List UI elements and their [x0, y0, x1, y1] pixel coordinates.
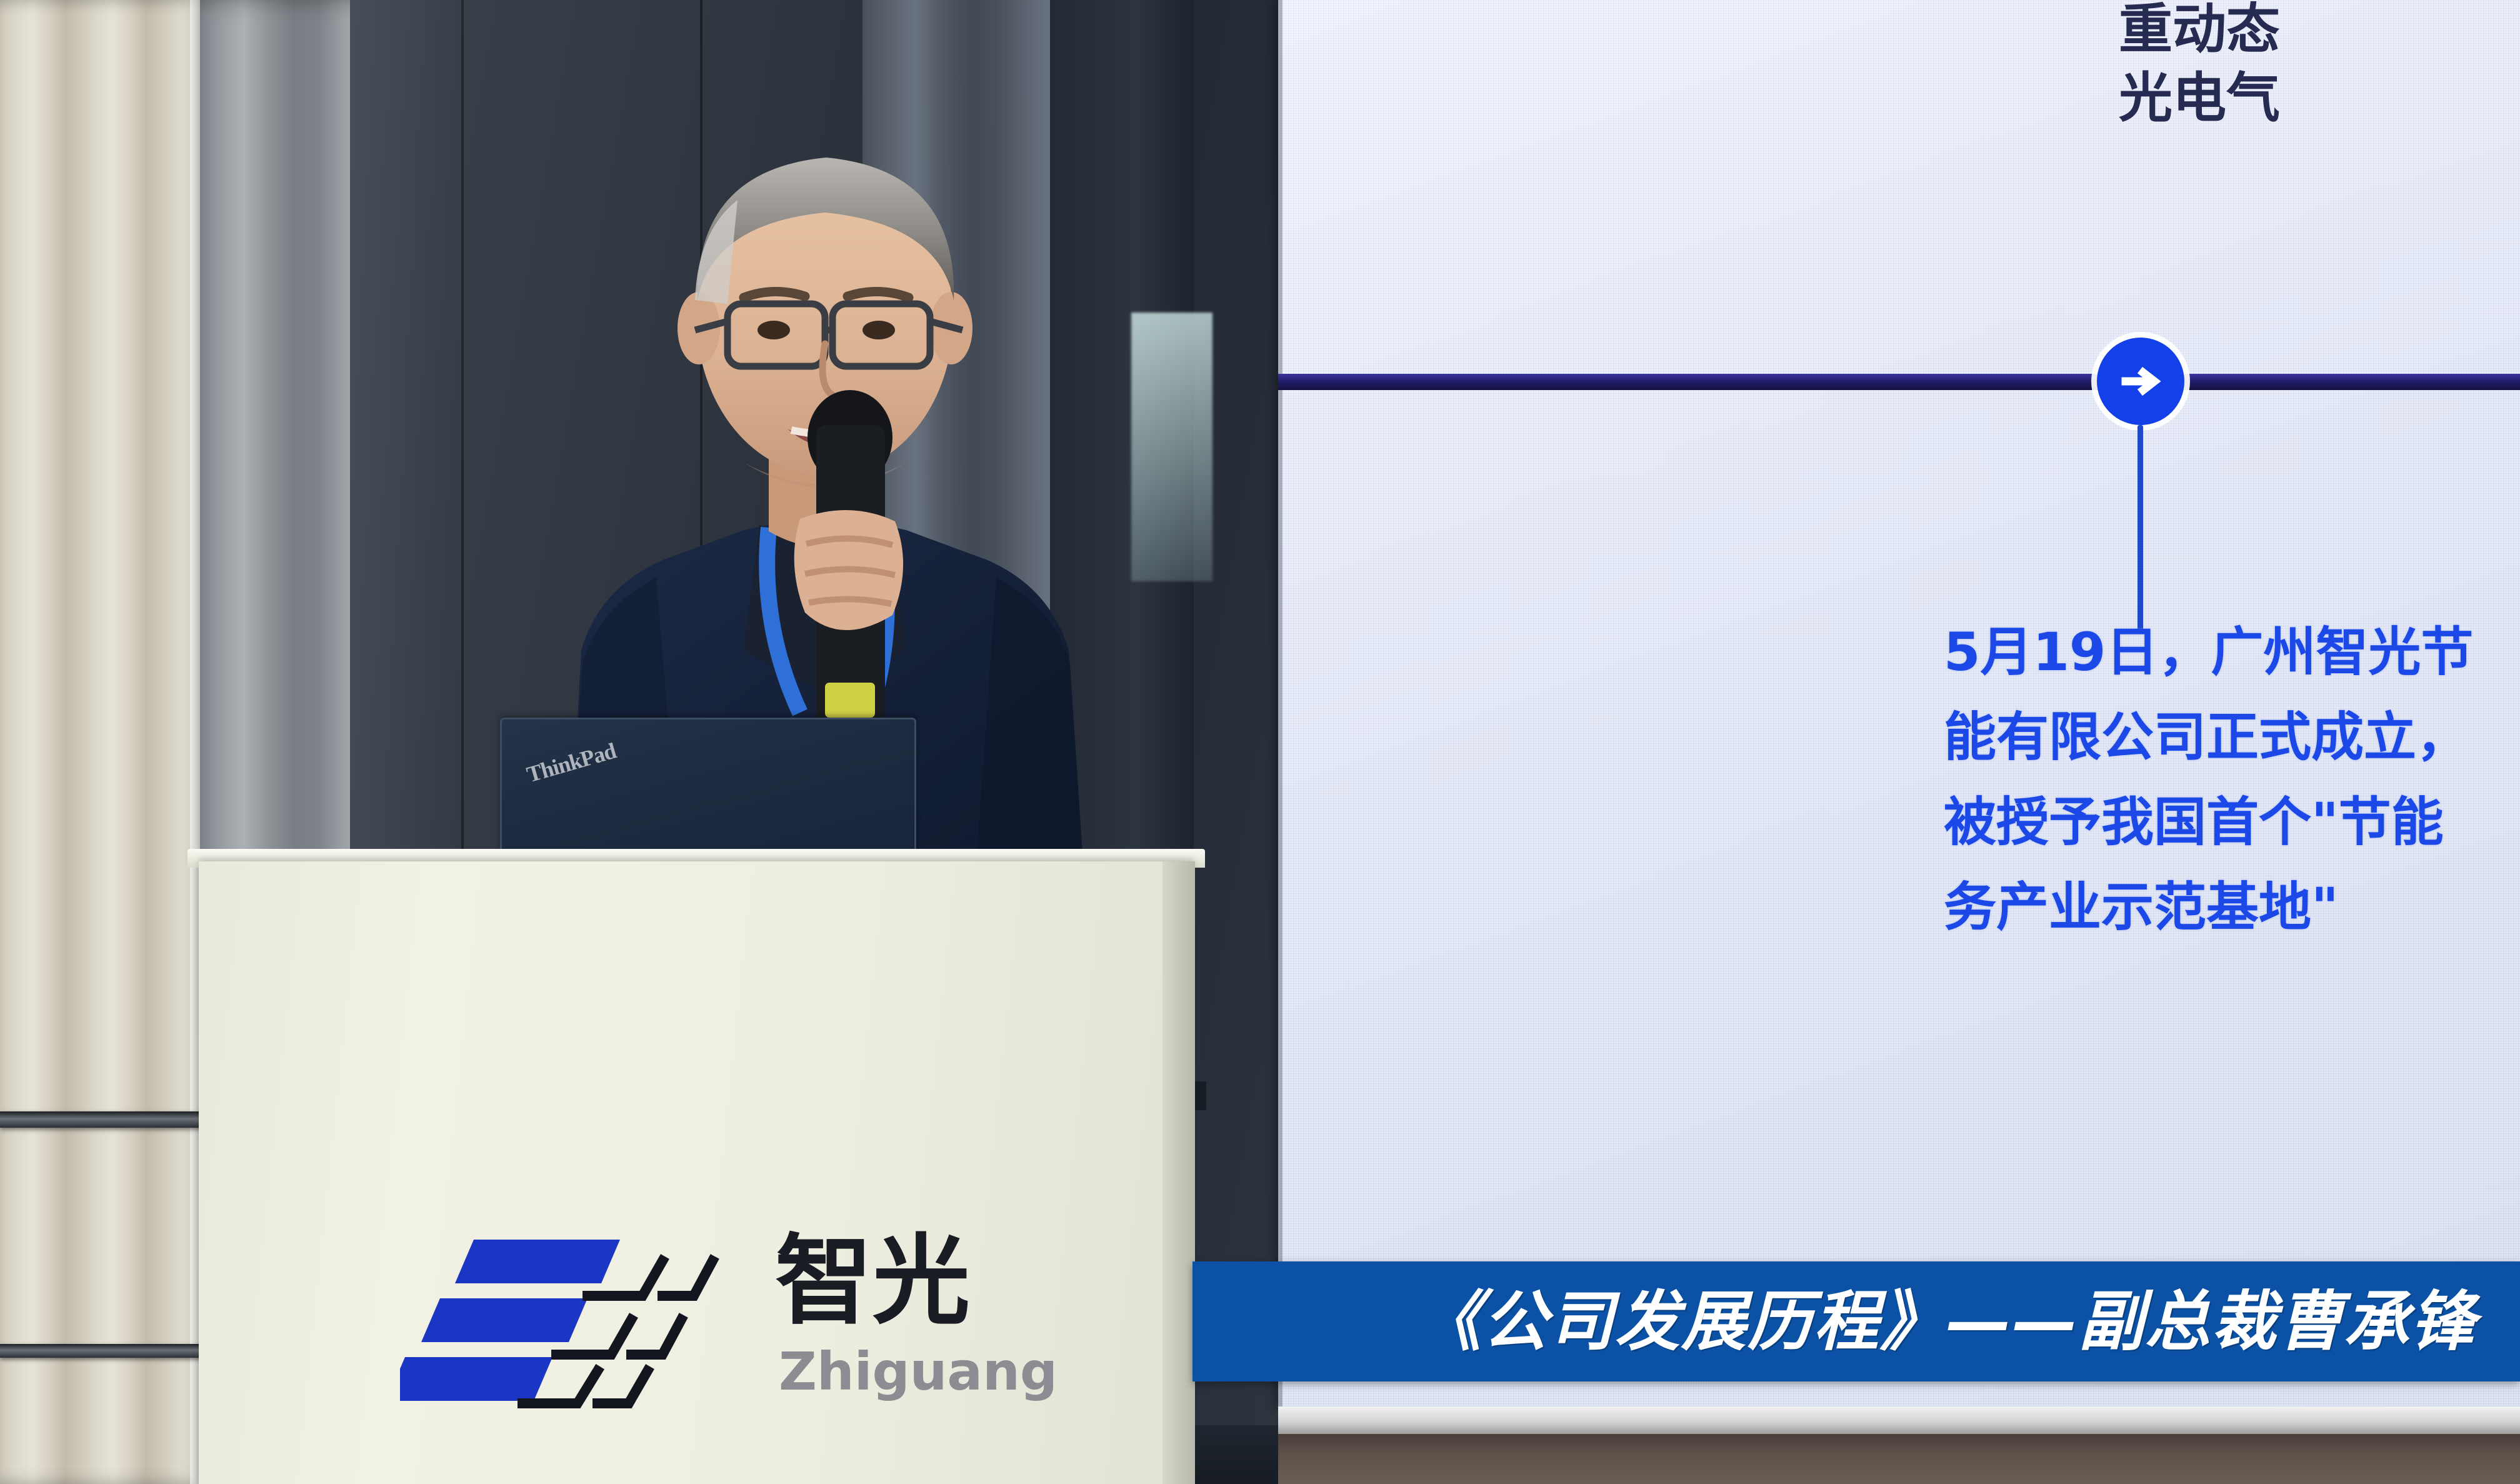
slide-top-headings: 重动态 光电气	[1278, 0, 2520, 133]
screen-base	[1278, 1434, 2520, 1484]
beige-curtain	[0, 0, 206, 1484]
svg-text:智光: 智光	[775, 1224, 970, 1338]
arrow-right-circle-icon	[2097, 338, 2184, 425]
thinkpad-logo: ThinkPad	[524, 738, 619, 788]
slide-body-line-3: 被授予我国首个"节能	[1944, 780, 2520, 865]
slide-body-line-1: 5月19日，广州智光节	[1944, 609, 2520, 694]
laptop-lid: ThinkPad	[500, 718, 916, 865]
slide-top-line-2: 光电气	[1278, 64, 2520, 133]
screen-bottom-bezel	[1278, 1406, 2520, 1434]
projection-screen: 重动态 光电气 5月19日，广州智光节 能有限公司正式成立， 被授予我国首个"节…	[1278, 0, 2520, 1406]
slide-body-text: 5月19日，广州智光节 能有限公司正式成立， 被授予我国首个"节能 务产业示范基…	[1944, 609, 2520, 950]
screen-left-edge	[1278, 0, 1282, 1406]
caption-bar: 《公司发展历程》——副总裁曹承锋	[1192, 1261, 2520, 1381]
slide-body-line-2: 能有限公司正式成立，	[1944, 694, 2520, 780]
timeline-connector	[2137, 425, 2143, 631]
slide-body-line-4: 务产业示范基地"	[1944, 865, 2520, 950]
zhiguang-logo: 智光 Zhiguang	[400, 1222, 1087, 1410]
slide-top-line-1: 重动态	[1278, 0, 2520, 64]
timeline-axis	[1278, 374, 2520, 390]
presentation-photo: 重动态 光电气 5月19日，广州智光节 能有限公司正式成立， 被授予我国首个"节…	[0, 0, 2520, 1484]
caption-text: 《公司发展历程》——副总裁曹承锋	[1416, 1289, 2476, 1354]
podium-right-edge	[1162, 861, 1195, 1484]
svg-text:Zhiguang: Zhiguang	[779, 1341, 1057, 1402]
